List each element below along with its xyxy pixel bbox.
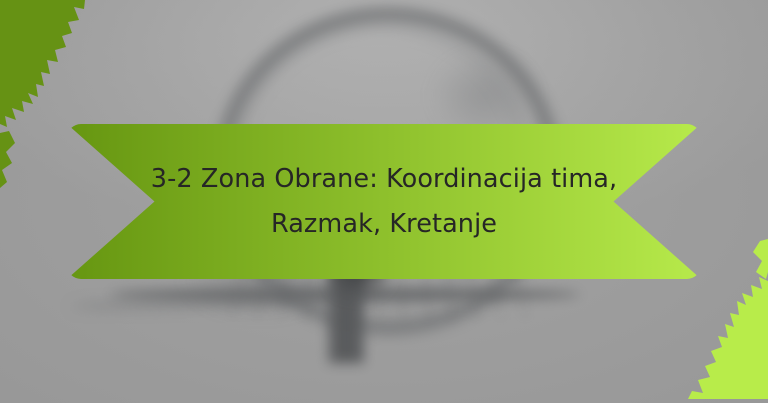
screenshot-canvas: 3-2 Zona Obrane: Koordinacija tima, Razm…	[0, 0, 768, 403]
title-ribbon: 3-2 Zona Obrane: Koordinacija tima, Razm…	[67, 124, 701, 279]
page-title: 3-2 Zona Obrane: Koordinacija tima, Razm…	[134, 157, 634, 247]
